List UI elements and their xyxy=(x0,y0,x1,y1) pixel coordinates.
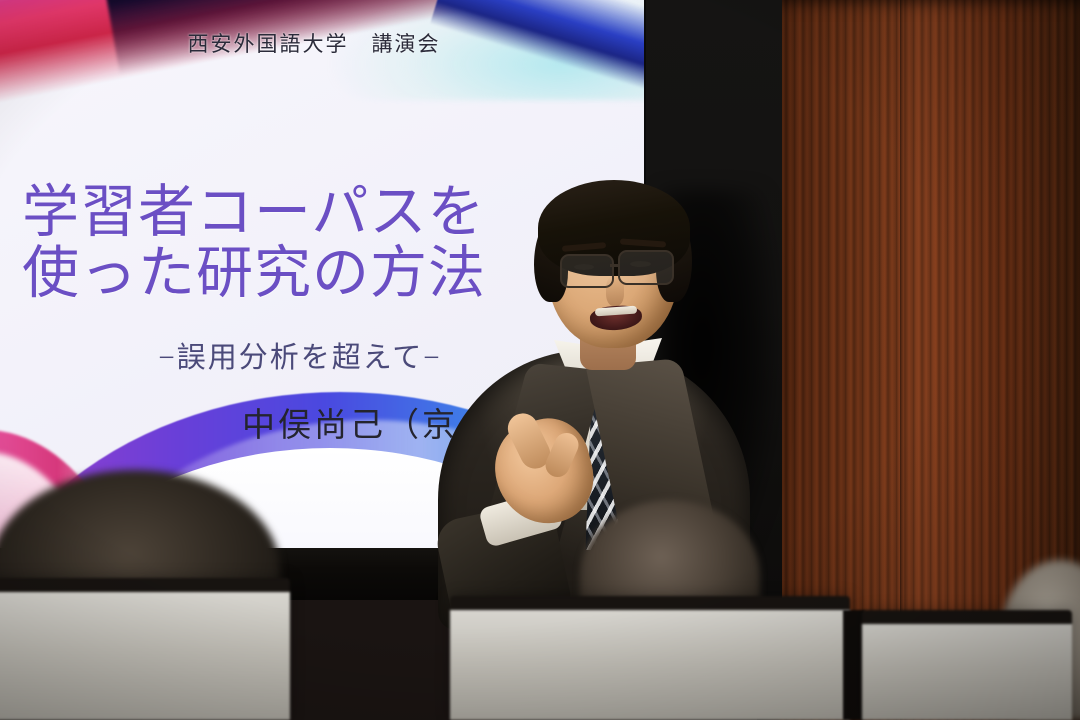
slide-header-text: 西安外国語大学 講演会 xyxy=(0,28,644,58)
chair-back xyxy=(450,596,850,720)
chair-back xyxy=(0,578,290,720)
chair-back xyxy=(862,610,1072,720)
eyeglasses-lens-right xyxy=(618,250,674,285)
eyeglasses-bridge xyxy=(610,264,620,267)
lecture-photo: 西安外国語大学 講演会 学習者コーパスを 使った研究の方法 −誤用分析を超えて−… xyxy=(0,0,1080,720)
speaker-nose xyxy=(606,276,624,306)
